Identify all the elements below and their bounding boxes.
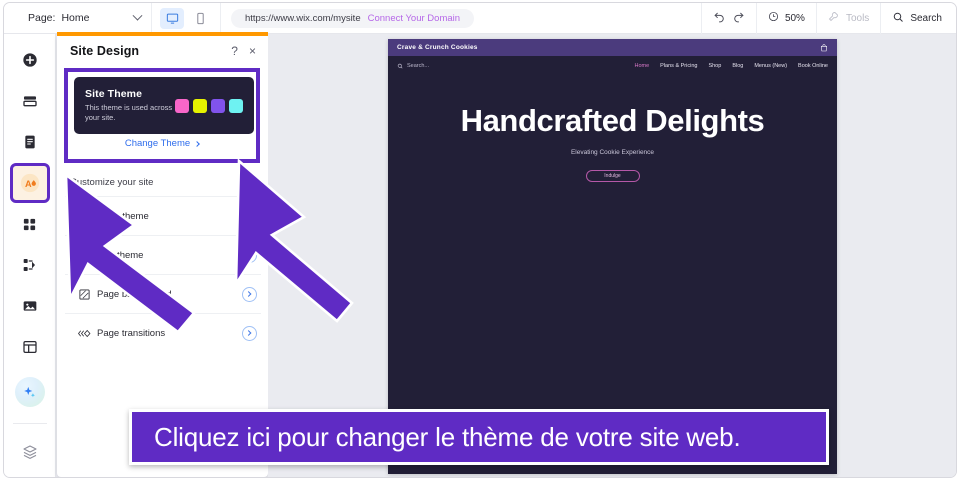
automations-icon <box>22 257 38 273</box>
orange-accent-rule <box>57 32 268 36</box>
change-theme-label: Change Theme <box>125 138 190 149</box>
site-nav-plans-pricing[interactable]: Plans & Pricing <box>660 63 697 69</box>
hero-cta-button[interactable]: Indulge <box>586 170 640 182</box>
sidebar-item-cms[interactable] <box>13 330 47 364</box>
theme-swatch-4 <box>229 99 243 113</box>
ai-assistant-button[interactable] <box>15 377 45 407</box>
hero-subtitle: Elevating Cookie Experience <box>388 149 837 156</box>
page-transitions-icon <box>71 327 97 340</box>
chevron-right-icon <box>245 330 251 336</box>
open-page-transitions-button[interactable] <box>242 326 257 341</box>
sidebar-item-add-section[interactable] <box>13 84 47 118</box>
page-label: Page: <box>14 12 61 24</box>
plus-icon <box>22 52 38 68</box>
change-theme-button[interactable]: Change Theme <box>68 138 256 149</box>
zoom-control[interactable]: 50% <box>756 3 816 34</box>
zoom-icon <box>768 11 779 25</box>
close-icon[interactable]: × <box>249 45 256 57</box>
tools-icon <box>828 11 840 26</box>
theme-swatches <box>175 99 243 113</box>
page-value: Home <box>61 12 89 24</box>
chevron-right-icon <box>245 291 251 297</box>
open-text-theme-button[interactable] <box>242 248 257 263</box>
tools-menu[interactable]: Tools <box>816 3 880 34</box>
page-background-icon <box>71 288 97 301</box>
svg-text:A: A <box>25 179 32 189</box>
pages-icon <box>22 134 38 150</box>
search-label: Search <box>910 13 942 24</box>
hero-section: Handcrafted Delights Elevating Cookie Ex… <box>388 75 837 182</box>
instruction-callout: Cliquez ici pour changer le thème de vot… <box>129 409 829 465</box>
open-page-background-button[interactable] <box>242 287 257 302</box>
site-nav-shop[interactable]: Shop <box>708 63 721 69</box>
list-item-label: Page background <box>97 289 171 300</box>
callout-text: Cliquez ici pour changer le thème de vot… <box>154 422 740 453</box>
viewport-switcher <box>152 3 221 34</box>
search-icon <box>892 11 904 26</box>
page-title: Site Design <box>70 44 139 58</box>
list-item-page-transitions[interactable]: Page transitions <box>65 313 261 352</box>
tools-label: Tools <box>846 13 869 24</box>
sidebar-item-marketing[interactable] <box>13 248 47 282</box>
open-color-theme-button[interactable] <box>242 209 257 224</box>
help-icon[interactable]: ? <box>231 45 238 57</box>
theme-swatch-3 <box>211 99 225 113</box>
sections-icon <box>22 93 38 109</box>
connect-domain-link[interactable]: Connect Your Domain <box>368 13 460 24</box>
history-controls <box>701 3 756 34</box>
rail-divider <box>13 423 47 424</box>
layers-icon <box>22 444 38 460</box>
panel-header: Site Design ? × <box>57 36 268 65</box>
sparkle-icon <box>22 385 37 400</box>
list-item-color-theme[interactable]: Color theme <box>65 196 261 235</box>
desktop-view-button[interactable] <box>160 8 184 29</box>
sidebar-item-media[interactable] <box>13 289 47 323</box>
site-nav-book-online[interactable]: Book Online <box>798 63 828 69</box>
color-palette-icon <box>71 210 97 223</box>
media-icon <box>22 298 38 314</box>
sidebar-item-add-elements[interactable] <box>13 43 47 77</box>
site-url-pill[interactable]: https://www.wix.com/mysite Connect Your … <box>231 9 474 28</box>
list-item-label: Page transitions <box>97 328 165 339</box>
site-navigation: Search... Home Plans & Pricing Shop Blog… <box>388 56 837 75</box>
site-nav-menus[interactable]: Menus (New) <box>754 63 787 69</box>
app-frame: Page: Home https: <box>3 2 957 478</box>
customize-list: Color theme Text theme <box>65 196 261 352</box>
site-theme-title: Site Theme <box>85 88 175 100</box>
chevron-right-icon <box>245 213 251 219</box>
hero-title: Handcrafted Delights <box>388 103 837 139</box>
cart-icon[interactable] <box>820 39 828 57</box>
chevron-right-icon <box>194 141 200 147</box>
site-theme-highlight-box: Site Theme This theme is used across you… <box>64 68 260 163</box>
address-bar: https://www.wix.com/mysite Connect Your … <box>221 3 484 34</box>
search-icon <box>397 63 403 69</box>
customize-section-label: Customize your site <box>70 177 153 188</box>
list-item-label: Color theme <box>97 211 149 222</box>
search-control[interactable]: Search <box>880 3 957 34</box>
site-header: Crave & Crunch Cookies <box>388 39 837 56</box>
list-item-label: Text theme <box>97 250 143 261</box>
site-url: https://www.wix.com/mysite <box>245 13 361 24</box>
site-nav-links: Home Plans & Pricing Shop Blog Menus (Ne… <box>634 63 828 69</box>
site-design-icon: A <box>20 173 40 193</box>
chevron-down-icon <box>133 10 143 20</box>
theme-swatch-2 <box>193 99 207 113</box>
site-nav-home[interactable]: Home <box>634 63 649 69</box>
site-brand: Crave & Crunch Cookies <box>397 44 478 51</box>
layers-button[interactable] <box>13 435 47 469</box>
zoom-level: 50% <box>785 13 805 24</box>
top-bar-right: 50% Tools Search <box>701 3 957 34</box>
cms-icon <box>22 339 38 355</box>
left-toolbar: A <box>4 34 56 478</box>
theme-swatch-1 <box>175 99 189 113</box>
site-search-placeholder: Search... <box>407 63 429 69</box>
list-item-page-background[interactable]: Page background <box>65 274 261 313</box>
chevron-right-icon <box>245 252 251 258</box>
page-selector[interactable]: Page: Home <box>4 3 152 34</box>
sidebar-item-pages[interactable] <box>13 125 47 159</box>
site-search[interactable]: Search... <box>397 63 429 69</box>
sidebar-item-apps[interactable] <box>13 207 47 241</box>
editor-top-bar: Page: Home https: <box>4 3 957 34</box>
site-theme-card[interactable]: Site Theme This theme is used across you… <box>74 77 254 134</box>
text-theme-icon <box>71 249 97 262</box>
redo-icon[interactable] <box>732 10 745 26</box>
mobile-view-button[interactable] <box>188 8 212 29</box>
site-theme-subtitle: This theme is used across your site. <box>85 103 175 123</box>
list-item-text-theme[interactable]: Text theme <box>65 235 261 274</box>
wix-editor-screen: Page: Home https: <box>0 0 960 480</box>
panel-header-actions: ? × <box>231 45 260 57</box>
apps-icon <box>22 217 37 232</box>
site-nav-blog[interactable]: Blog <box>732 63 743 69</box>
undo-icon[interactable] <box>713 10 726 26</box>
site-theme-card-text: Site Theme This theme is used across you… <box>85 88 175 123</box>
sidebar-item-site-design[interactable]: A <box>13 166 47 200</box>
